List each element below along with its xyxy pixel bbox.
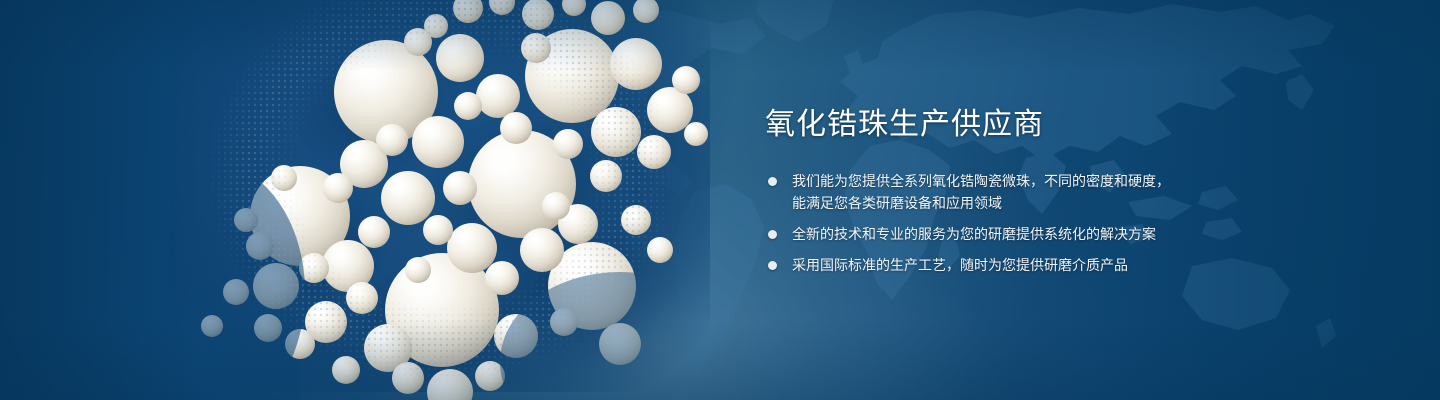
bullet-line: 采用国际标准的生产工艺，随时为您提供研磨介质产品 xyxy=(792,254,1385,276)
bullet-item-2: 全新的技术和专业的服务为您的研磨提供系统化的解决方案 xyxy=(765,223,1385,245)
banner-text-block: 氧化锆珠生产供应商 我们能为您提供全系列氧化锆陶瓷微珠，不同的密度和硬度， 能满… xyxy=(765,106,1385,276)
banner-headline: 氧化锆珠生产供应商 xyxy=(765,106,1385,144)
bullet-line: 全新的技术和专业的服务为您的研磨提供系统化的解决方案 xyxy=(792,223,1385,245)
bullet-dot-icon xyxy=(768,177,777,186)
banner-bullet-list: 我们能为您提供全系列氧化锆陶瓷微珠，不同的密度和硬度， 能满足您各类研磨设备和应… xyxy=(765,170,1385,276)
bullet-item-1: 我们能为您提供全系列氧化锆陶瓷微珠，不同的密度和硬度， 能满足您各类研磨设备和应… xyxy=(765,170,1385,214)
bullet-line: 我们能为您提供全系列氧化锆陶瓷微珠，不同的密度和硬度， xyxy=(792,170,1385,192)
bullet-dot-icon xyxy=(768,261,777,270)
bullet-dot-icon xyxy=(768,230,777,239)
bullet-line: 能满足您各类研磨设备和应用领域 xyxy=(792,192,1385,214)
bullet-item-3: 采用国际标准的生产工艺，随时为您提供研磨介质产品 xyxy=(765,254,1385,276)
hero-banner: 氧化锆珠生产供应商 我们能为您提供全系列氧化锆陶瓷微珠，不同的密度和硬度， 能满… xyxy=(0,0,1440,400)
